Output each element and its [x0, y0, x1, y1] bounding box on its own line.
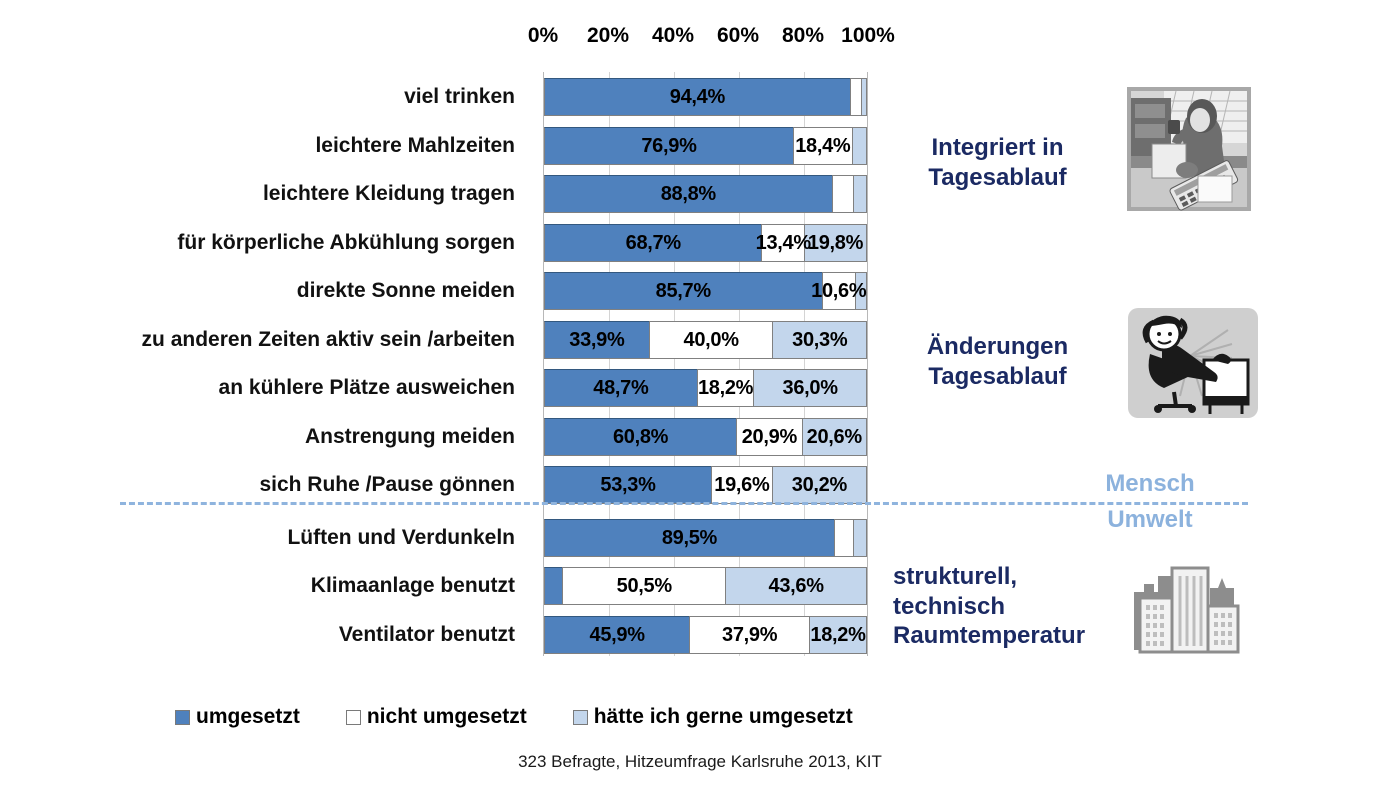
bar-segment	[834, 519, 854, 557]
bar-segment	[544, 567, 563, 605]
bar-value-label: 36,0%	[783, 377, 838, 400]
bar-value-label: 18,2%	[698, 377, 753, 400]
bar-row: 94,4%	[544, 78, 867, 116]
bar-segment: 36,0%	[753, 369, 867, 407]
bar-segment	[852, 127, 867, 165]
bar-value-label: 18,2%	[810, 624, 865, 647]
bar-row: 76,9%18,4%	[544, 127, 867, 165]
bar-segment: 19,8%	[804, 224, 867, 262]
person-relaxing-image	[1128, 308, 1258, 418]
category-label: zu anderen Zeiten aktiv sein /arbeiten	[0, 321, 527, 359]
bar-segment: 20,9%	[736, 418, 802, 456]
bar-value-label: 10,6%	[811, 280, 866, 303]
category-label: direkte Sonne meiden	[0, 272, 527, 310]
annotation-umwelt: Umwelt	[1075, 506, 1225, 535]
annotation-line: technisch	[893, 592, 1118, 622]
annotation-aenderungen-tagesablauf: Änderungen Tagesablauf	[900, 332, 1095, 391]
bar-value-label: 20,9%	[742, 426, 797, 449]
bar-segment: 94,4%	[544, 78, 851, 116]
annotation-line: Raumtemperatur	[893, 621, 1118, 651]
bar-segment: 43,6%	[725, 567, 867, 605]
bar-segment	[853, 519, 867, 557]
bar-segment: 18,2%	[697, 369, 755, 407]
x-axis-tick-label: 20%	[587, 24, 629, 48]
bar-segment: 30,2%	[772, 466, 867, 504]
annotation-strukturell-technisch: strukturell, technisch Raumtemperatur	[893, 562, 1118, 651]
bar-value-label: 33,9%	[569, 329, 624, 352]
bar-row: 89,5%	[544, 519, 867, 557]
bar-row: 53,3%19,6%30,2%	[544, 466, 867, 504]
category-label: an kühlere Plätze ausweichen	[0, 369, 527, 407]
bar-segment: 18,4%	[793, 127, 853, 165]
bar-segment: 88,8%	[544, 175, 833, 213]
bar-segment: 48,7%	[544, 369, 698, 407]
bar-value-label: 40,0%	[684, 329, 739, 352]
bar-segment: 85,7%	[544, 272, 823, 310]
bar-value-label: 30,3%	[792, 329, 847, 352]
bar-row: 50,5%43,6%	[544, 567, 867, 605]
bar-value-label: 85,7%	[656, 280, 711, 303]
bar-value-label: 18,4%	[795, 135, 850, 158]
bar-segment: 50,5%	[562, 567, 726, 605]
annotation-line: Änderungen	[900, 332, 1095, 362]
bar-segment: 53,3%	[544, 466, 712, 504]
bar-value-label: 53,3%	[600, 474, 655, 497]
category-label: leichtere Kleidung tragen	[0, 175, 527, 213]
bar-segment: 40,0%	[649, 321, 774, 359]
legend-swatch	[573, 710, 588, 725]
category-label: Lüften und Verdunkeln	[0, 519, 527, 557]
bar-row: 48,7%18,2%36,0%	[544, 369, 867, 407]
x-axis-tick-label: 40%	[652, 24, 694, 48]
bar-segment: 76,9%	[544, 127, 794, 165]
x-axis-tick-label: 60%	[717, 24, 759, 48]
category-label: Ventilator benutzt	[0, 616, 527, 654]
bar-segment: 45,9%	[544, 616, 690, 654]
bar-segment: 37,9%	[689, 616, 810, 654]
bar-segment	[861, 78, 867, 116]
bar-segment: 20,6%	[802, 418, 867, 456]
annotation-line: Tagesablauf	[900, 362, 1095, 392]
bar-segment: 13,4%	[761, 224, 805, 262]
annotation-line: strukturell,	[893, 562, 1118, 592]
bar-segment: 19,6%	[711, 466, 773, 504]
bar-value-label: 50,5%	[617, 575, 672, 598]
bar-value-label: 88,8%	[661, 183, 716, 206]
bar-row: 85,7%10,6%	[544, 272, 867, 310]
bar-value-label: 19,6%	[714, 474, 769, 497]
bar-value-label: 76,9%	[641, 135, 696, 158]
bar-segment: 18,2%	[809, 616, 867, 654]
bar-value-label: 89,5%	[662, 527, 717, 550]
annotation-line: Tagesablauf	[900, 163, 1095, 193]
bar-row: 45,9%37,9%18,2%	[544, 616, 867, 654]
bar-row: 33,9%40,0%30,3%	[544, 321, 867, 359]
category-label: Klimaanlage benutzt	[0, 567, 527, 605]
chart-container: 0%20%40%60%80%100% viel trinkenleichtere…	[0, 0, 1400, 788]
bar-segment: 60,8%	[544, 418, 737, 456]
x-axis-tick-labels: 0%20%40%60%80%100%	[543, 24, 868, 54]
bar-segment: 68,7%	[544, 224, 762, 262]
bar-row: 68,7%13,4%19,8%	[544, 224, 867, 262]
category-label: sich Ruhe /Pause gönnen	[0, 466, 527, 504]
x-axis-tick-label: 0%	[528, 24, 558, 48]
bar-value-label: 68,7%	[626, 232, 681, 255]
x-axis-tick-label: 100%	[841, 24, 895, 48]
bar-value-label: 13,4%	[756, 232, 811, 255]
legend-label: umgesetzt	[196, 705, 300, 729]
bar-row: 88,8%	[544, 175, 867, 213]
x-axis-tick-label: 80%	[782, 24, 824, 48]
annotation-mensch: Mensch	[1075, 470, 1225, 499]
bar-value-label: 60,8%	[613, 426, 668, 449]
bar-segment	[832, 175, 854, 213]
legend-item[interactable]: umgesetzt	[175, 705, 300, 729]
legend-label: nicht umgesetzt	[367, 705, 527, 729]
annotation-line: Integriert in	[900, 133, 1095, 163]
legend-item[interactable]: nicht umgesetzt	[346, 705, 527, 729]
legend-swatch	[346, 710, 361, 725]
category-label: viel trinken	[0, 78, 527, 116]
bar-value-label: 20,6%	[807, 426, 862, 449]
bar-segment: 10,6%	[822, 272, 856, 310]
bar-value-label: 37,9%	[722, 624, 777, 647]
bar-value-label: 43,6%	[769, 575, 824, 598]
bar-segment: 30,3%	[772, 321, 867, 359]
category-label: Anstrengung meiden	[0, 418, 527, 456]
bar-value-label: 45,9%	[590, 624, 645, 647]
category-label: für körperliche Abkühlung sorgen	[0, 224, 527, 262]
legend-item[interactable]: hätte ich gerne umgesetzt	[573, 705, 853, 729]
annotation-integriert-tagesablauf: Integriert in Tagesablauf	[900, 133, 1095, 192]
legend-swatch	[175, 710, 190, 725]
bar-row: 60,8%20,9%20,6%	[544, 418, 867, 456]
bar-segment	[853, 175, 867, 213]
bar-value-label: 48,7%	[593, 377, 648, 400]
chart-caption: 323 Befragte, Hitzeumfrage Karlsruhe 201…	[0, 752, 1400, 772]
category-label: leichtere Mahlzeiten	[0, 127, 527, 165]
bar-segment: 33,9%	[544, 321, 650, 359]
person-at-desk-image	[1124, 84, 1254, 214]
bar-segment: 89,5%	[544, 519, 835, 557]
mensch-umwelt-divider	[120, 502, 1248, 505]
legend-label: hätte ich gerne umgesetzt	[594, 705, 853, 729]
plot-area: 94,4%76,9%18,4%88,8%68,7%13,4%19,8%85,7%…	[543, 72, 868, 656]
bar-value-label: 94,4%	[670, 86, 725, 109]
bar-value-label: 19,8%	[808, 232, 863, 255]
city-buildings-image	[1124, 558, 1254, 662]
chart-legend: umgesetztnicht umgesetzthätte ich gerne …	[175, 705, 853, 729]
bar-value-label: 30,2%	[792, 474, 847, 497]
